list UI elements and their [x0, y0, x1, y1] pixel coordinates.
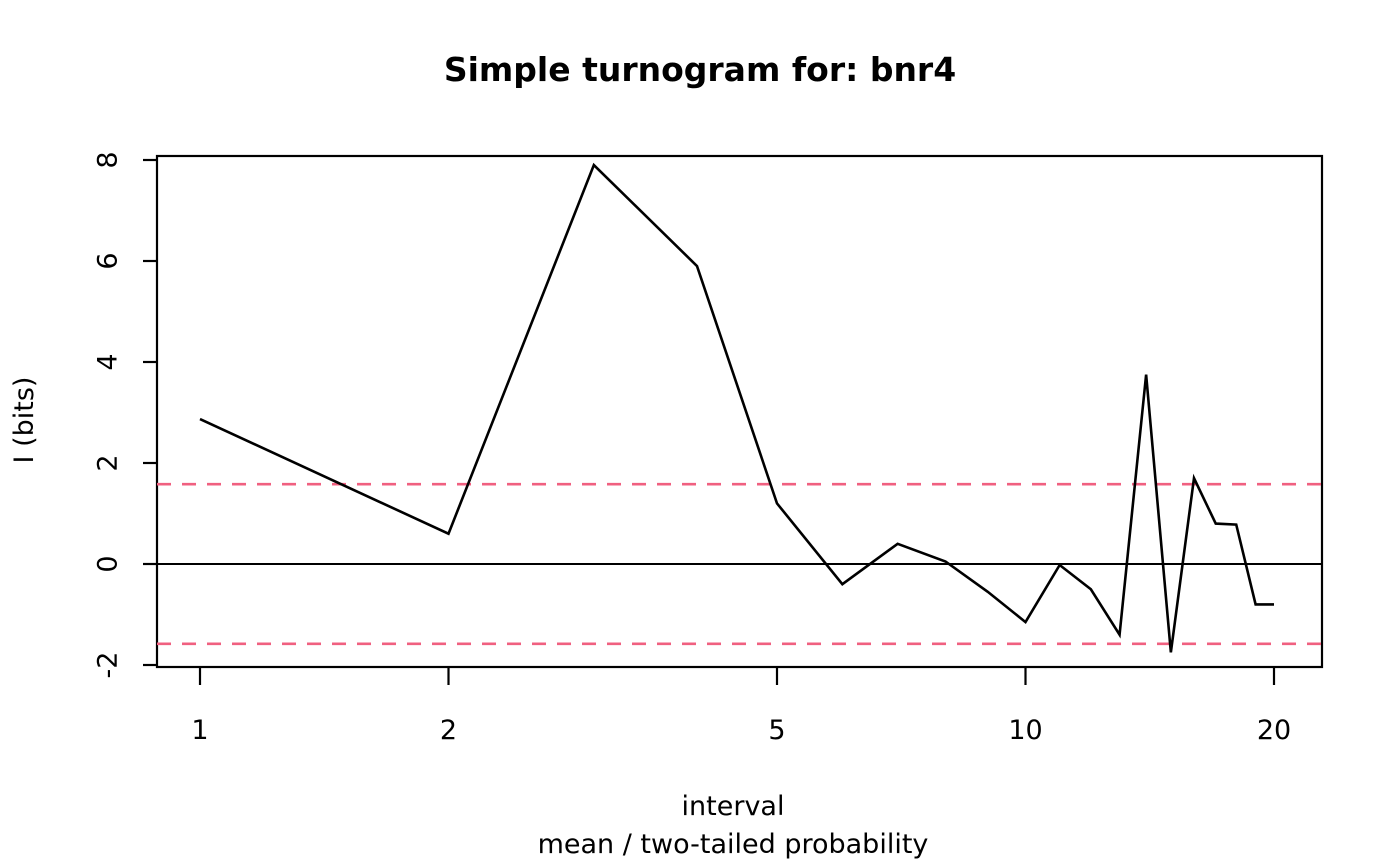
plot-frame	[157, 156, 1322, 667]
y-tick-label-4: 4	[93, 353, 124, 370]
reference-lines	[157, 484, 1322, 644]
turnogram-plot: Simple turnogram for: bnr4 -202468 12510…	[0, 0, 1400, 866]
x-tick-label-2: 2	[440, 715, 457, 746]
chart-svg: -202468 1251020 interval mean / two-tail…	[0, 0, 1400, 866]
x-axis-subtitle: mean / two-tailed probability	[538, 829, 929, 860]
y-axis: -202468	[93, 151, 158, 678]
x-axis: 1251020	[191, 667, 1291, 746]
x-axis-title: interval	[682, 791, 785, 822]
y-axis-title: I (bits)	[9, 377, 40, 464]
series-line-0	[200, 165, 1274, 652]
x-tick-label-10: 10	[1008, 715, 1042, 746]
data-series	[200, 165, 1274, 652]
x-tick-label-5: 5	[768, 715, 785, 746]
y-tick-label--2: -2	[93, 652, 124, 679]
y-tick-label-2: 2	[93, 454, 124, 471]
y-tick-label-0: 0	[93, 555, 124, 572]
x-tick-label-1: 1	[191, 715, 208, 746]
y-tick-label-8: 8	[93, 151, 124, 168]
x-tick-label-20: 20	[1257, 715, 1291, 746]
y-tick-label-6: 6	[93, 252, 124, 269]
